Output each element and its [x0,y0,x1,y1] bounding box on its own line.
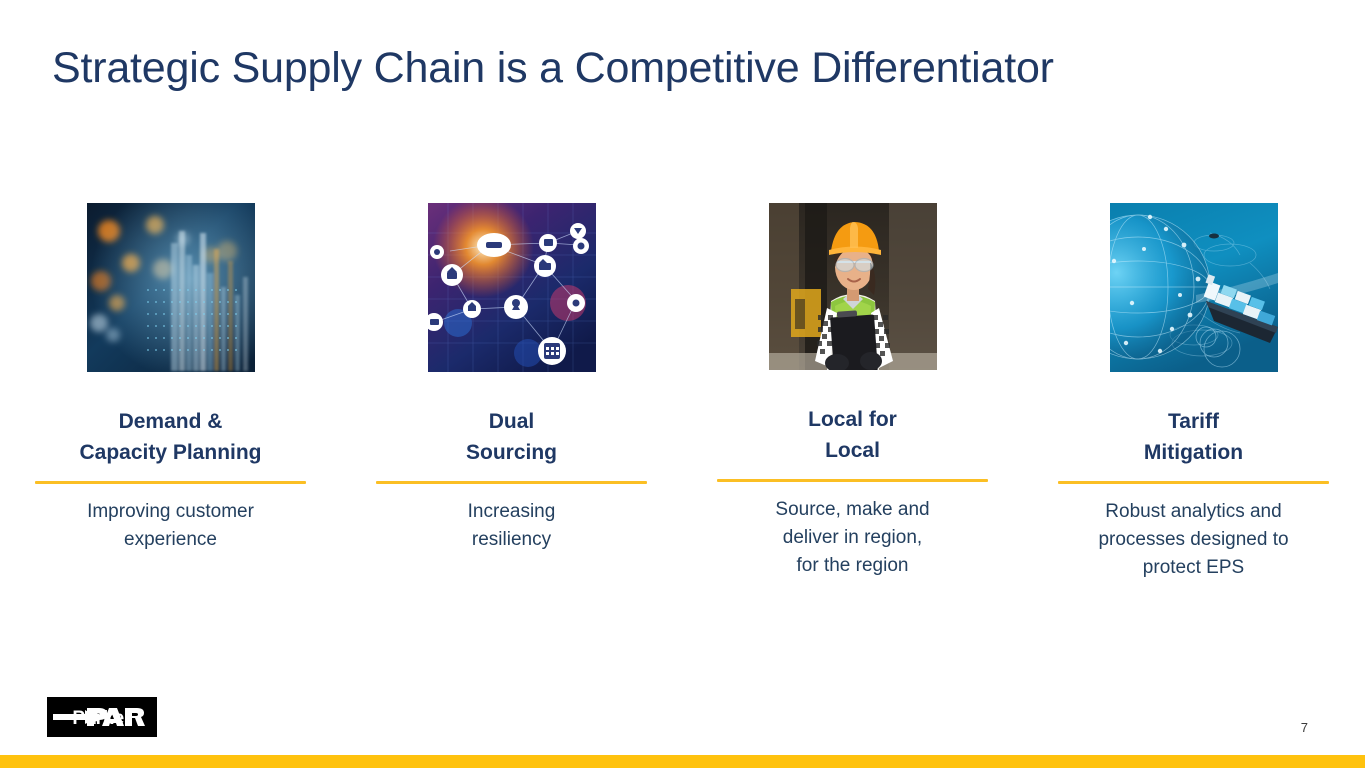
column-heading: Tariff Mitigation [1144,406,1243,468]
column-heading: Local for Local [808,404,897,466]
column-body-text: Improving customer experience [87,498,254,554]
column-body-text: Source, make and deliver in region, for … [775,496,929,580]
column-dual-sourcing: Dual Sourcing Increasing resiliency [341,203,682,582]
column-divider [1058,481,1329,484]
column-body-text: Robust analytics and processes designed … [1098,498,1288,582]
bottom-accent-bar [0,755,1365,768]
digital-network-nodes-image [428,203,596,372]
warehouse-worker-image [769,203,937,370]
page-title: Strategic Supply Chain is a Competitive … [52,44,1054,93]
data-analytics-bokeh-image [87,203,255,372]
column-tariff-mitigation: Tariff Mitigation Robust analytics and p… [1023,203,1364,582]
column-divider [35,481,306,484]
column-divider [376,481,647,484]
column-heading: Demand & Capacity Planning [79,406,261,468]
column-body-text: Increasing resiliency [468,498,556,554]
column-demand-capacity-planning: Demand & Capacity Planning Improving cus… [0,203,341,582]
parker-logo: Parker [47,697,157,737]
container-ship-globe-image [1110,203,1278,372]
content-columns: Demand & Capacity Planning Improving cus… [0,203,1365,582]
page-number: 7 [1301,720,1308,735]
column-local-for-local: Local for Local Source, make and deliver… [682,203,1023,582]
column-divider [717,479,988,482]
column-heading: Dual Sourcing [466,406,557,468]
